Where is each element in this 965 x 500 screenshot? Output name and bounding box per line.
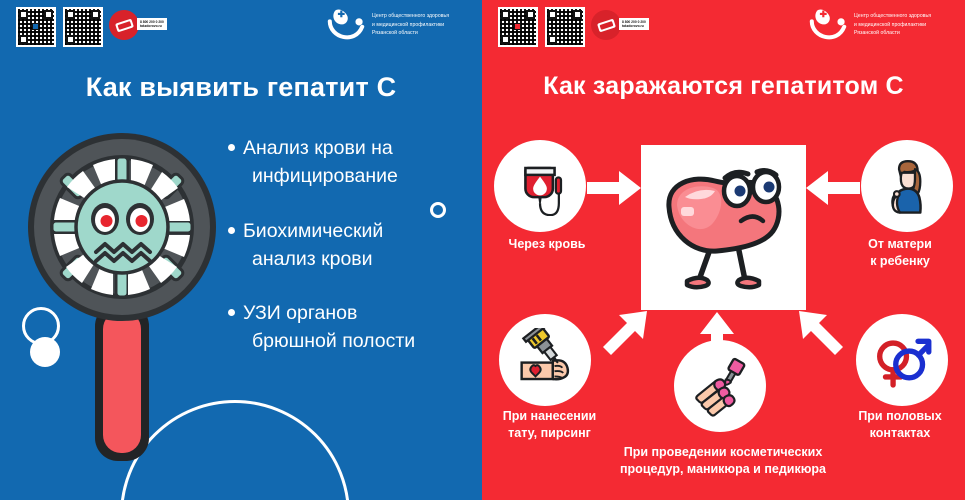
qr-code-4-pattern [547,9,583,45]
bullet-2-line-2: анализ крови [228,245,478,273]
node-cosmetic-label: При проведении косметических процедур, м… [583,444,863,478]
node-sexual-label-line-1: При половых [830,408,965,425]
node-cosmetic-icon[interactable] [674,340,766,432]
sad-liver-icon [641,145,806,310]
qr-code-3[interactable] [498,7,538,47]
node-mother-icon[interactable] [861,140,953,232]
node-blood-icon[interactable] [494,140,586,232]
left-poster-title: Как выявить гепатит С [0,72,482,103]
hotline-site: takzdorovo.ru [140,24,164,28]
gender-symbols-icon [869,327,935,393]
bullet-3-line-1: УЗИ органов [228,299,478,327]
org-logo-text: Центр общественного здоровья и медицинск… [854,12,931,37]
bullet-3-line-2: брюшной полости [228,327,478,355]
hotline-site: takzdorovo.ru [622,24,646,28]
health-center-logo-icon [326,7,366,43]
phone-icon [115,18,134,32]
bullet-1-line-1: Анализ крови на [228,134,478,162]
magnifying-glass-illustration [23,131,233,461]
node-mother-label-line-2: к ребенку [835,253,965,270]
tattoo-machine-icon [513,328,577,392]
qr-code-2-pattern [65,9,101,45]
node-blood-label: Через кровь [482,236,612,253]
list-item: Биохимический анализ крови [228,217,478,274]
qr-code-1-pattern [18,9,54,45]
org-logo-right: Центр общественного здоровья и медицинск… [808,7,931,43]
qr-code-4[interactable] [545,7,585,47]
org-line-2: и медицинской профилактики [372,21,449,29]
header-left: 8 800 200 0 200 takzdorovo.ru Центр обще… [0,0,482,52]
phone-icon [597,18,616,32]
health-center-logo-icon [808,7,848,43]
org-line-1: Центр общественного здоровья [372,12,449,20]
blood-bag-icon [510,156,570,216]
list-item: УЗИ органов брюшной полости [228,299,478,356]
node-mother-label-line-1: От матери [835,236,965,253]
node-tattoo-icon[interactable] [499,314,591,406]
poster-right: 8 800 200 0 200 takzdorovo.ru Центр обще… [482,0,965,500]
node-tattoo-label-line-2: тату, пирсинг [482,425,627,442]
org-line-1: Центр общественного здоровья [854,12,931,20]
bullet-1-line-2: инфицирование [228,162,478,190]
bullet-2-line-1: Биохимический [228,217,478,245]
hotline-text: 8 800 200 0 200 takzdorovo.ru [137,18,167,30]
left-bullet-list: Анализ крови на инфицирование Биохимичес… [228,134,478,382]
right-poster-title: Как заражаются гепатитом С [482,72,965,101]
qr-code-3-pattern [500,9,536,45]
node-tattoo-label: При нанесении тату, пирсинг [482,408,627,442]
node-sexual-label-line-2: контактах [830,425,965,442]
hotline-text-right: 8 800 200 0 200 takzdorovo.ru [619,18,649,30]
nail-polish-icon [689,355,751,417]
header-right: 8 800 200 0 200 takzdorovo.ru Центр обще… [482,0,965,52]
org-logo-text: Центр общественного здоровья и медицинск… [372,12,449,37]
liver-card [641,145,806,310]
org-line-3: Рязанской области [854,29,931,37]
node-tattoo-label-line-1: При нанесении [482,408,627,425]
org-line-2: и медицинской профилактики [854,21,931,29]
list-item: Анализ крови на инфицирование [228,134,478,191]
node-cosmetic-label-line-1: При проведении косметических [583,444,863,461]
node-cosmetic-label-line-2: процедур, маникюра и педикюра [583,461,863,478]
qr-code-1[interactable] [16,7,56,47]
hotline-badge-right [591,10,621,40]
node-mother-label: От матери к ребенку [835,236,965,270]
node-sexual-label: При половых контактах [830,408,965,442]
hotline-badge [109,10,139,40]
poster-left: 8 800 200 0 200 takzdorovo.ru Центр обще… [0,0,482,500]
qr-code-2[interactable] [63,7,103,47]
node-sexual-icon[interactable] [856,314,948,406]
org-line-3: Рязанской области [372,29,449,37]
node-blood-label-line-1: Через кровь [482,236,612,253]
poster-pair: 8 800 200 0 200 takzdorovo.ru Центр обще… [0,0,965,500]
org-logo: Центр общественного здоровья и медицинск… [326,7,449,43]
pregnant-woman-icon [876,155,938,217]
transmission-diagram: Через кровь От матери к ребенку [482,118,965,448]
